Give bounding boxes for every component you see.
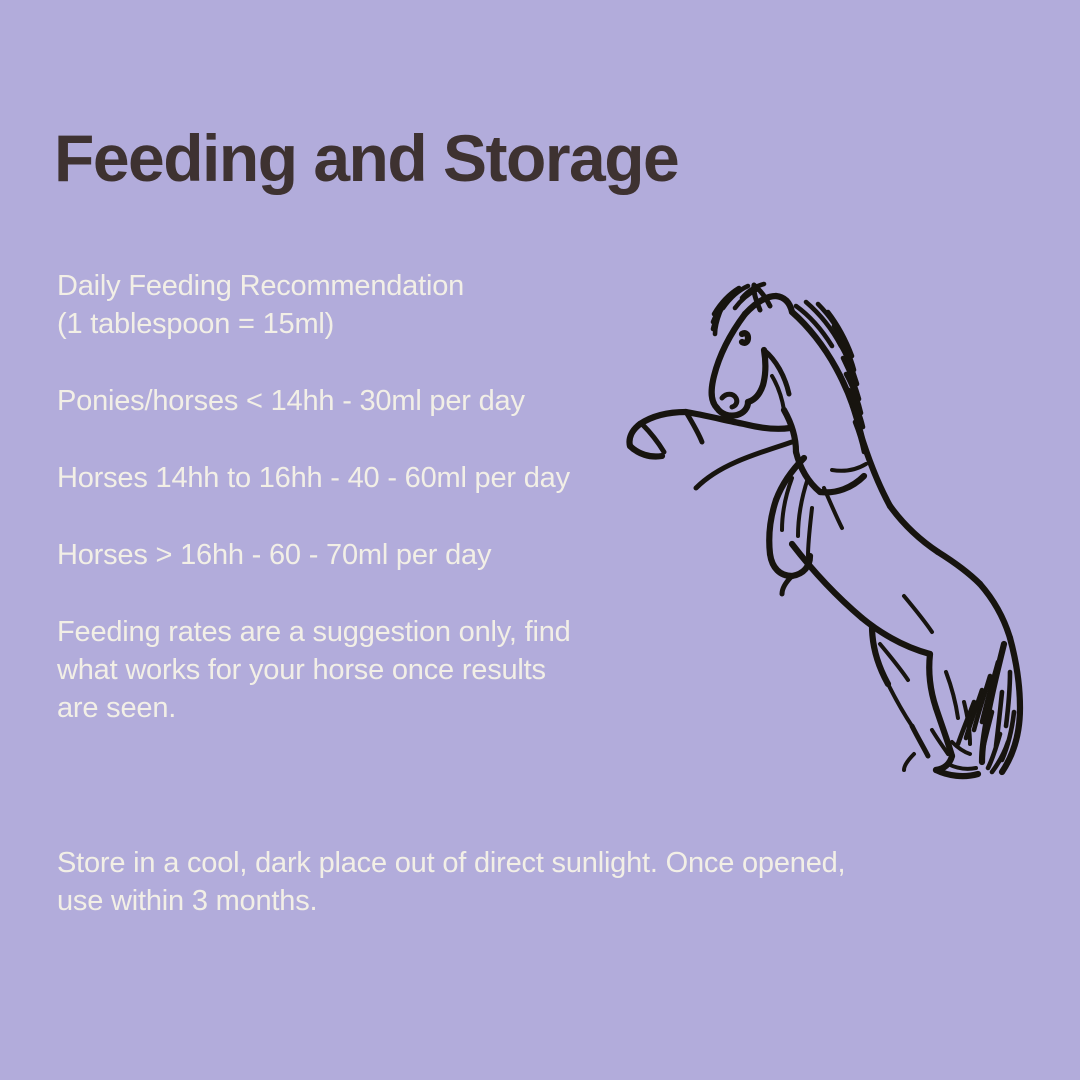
page-title: Feeding and Storage xyxy=(54,122,678,194)
feeding-section: Daily Feeding Recommendation (1 tablespo… xyxy=(57,267,757,727)
feeding-rate-ponies-under-14hh: Ponies/horses < 14hh - 30ml per day xyxy=(57,382,757,420)
feeding-note: Feeding rates are a suggestion only, fin… xyxy=(57,613,757,727)
feeding-rate-horses-14hh-16hh: Horses 14hh to 16hh - 40 - 60ml per day xyxy=(57,459,757,497)
info-card: Feeding and Storage Daily Feeding Recomm… xyxy=(0,0,1080,1080)
storage-instructions: Store in a cool, dark place out of direc… xyxy=(57,844,1047,920)
feeding-rate-horses-over-16hh: Horses > 16hh - 60 - 70ml per day xyxy=(57,536,757,574)
feeding-heading: Daily Feeding Recommendation (1 tablespo… xyxy=(57,267,757,343)
storage-section: Store in a cool, dark place out of direc… xyxy=(57,844,1047,920)
